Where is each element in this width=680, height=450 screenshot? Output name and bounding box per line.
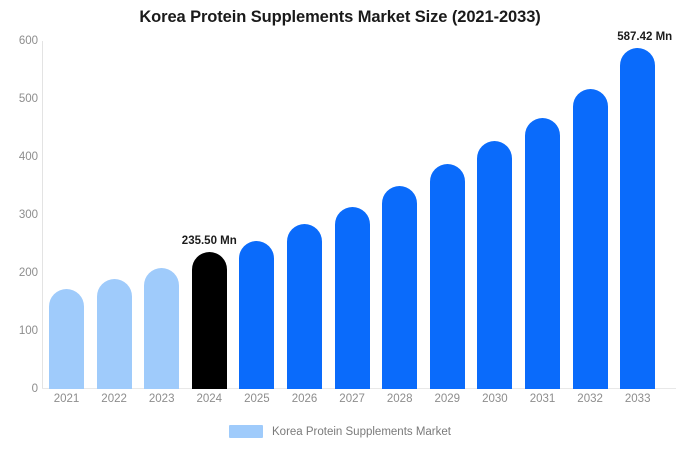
- x-axis-tick-label-2024: 2024: [192, 393, 227, 405]
- bar-2030[interactable]: [477, 141, 512, 389]
- bar-slot-2021: [49, 41, 84, 389]
- plot-area: 235.50 Mn587.42 Mn: [42, 41, 676, 389]
- y-axis: 0100200300400500600: [0, 41, 38, 389]
- bar-2026[interactable]: [287, 224, 322, 389]
- legend-label-korea-protein-supplements-market: Korea Protein Supplements Market: [272, 426, 451, 438]
- x-axis-tick-label-2029: 2029: [430, 393, 465, 405]
- y-axis-tick-label: 500: [4, 93, 38, 105]
- bar-slot-2023: [144, 41, 179, 389]
- bar-2025[interactable]: [239, 241, 274, 389]
- bar-2024[interactable]: 235.50 Mn: [192, 252, 227, 389]
- bar-2033[interactable]: 587.42 Mn: [620, 48, 655, 389]
- bar-2031[interactable]: [525, 118, 560, 389]
- bar-slot-2027: [335, 41, 370, 389]
- chart-title: Korea Protein Supplements Market Size (2…: [0, 8, 680, 27]
- bar-slot-2025: [239, 41, 274, 389]
- y-axis-tick-label: 100: [4, 325, 38, 337]
- bar-chart: Korea Protein Supplements Market Size (2…: [0, 0, 680, 450]
- x-axis-tick-label-2031: 2031: [525, 393, 560, 405]
- x-axis-tick-label-2027: 2027: [335, 393, 370, 405]
- x-axis-tick-label-2023: 2023: [144, 393, 179, 405]
- x-axis: 2021202220232024202520262027202820292030…: [42, 393, 676, 411]
- bar-2028[interactable]: [382, 186, 417, 389]
- y-axis-tick-label: 600: [4, 35, 38, 47]
- y-axis-tick-label: 0: [4, 383, 38, 395]
- x-axis-tick-label-2030: 2030: [477, 393, 512, 405]
- bar-slot-2031: [525, 41, 560, 389]
- bar-2022[interactable]: [97, 279, 132, 389]
- x-axis-tick-label-2022: 2022: [97, 393, 132, 405]
- bar-slot-2026: [287, 41, 322, 389]
- x-axis-tick-label-2028: 2028: [382, 393, 417, 405]
- chart-legend: Korea Protein Supplements Market: [0, 425, 680, 438]
- bar-slot-2028: [382, 41, 417, 389]
- bar-2023[interactable]: [144, 268, 179, 389]
- bar-2027[interactable]: [335, 207, 370, 389]
- bar-slot-2022: [97, 41, 132, 389]
- y-axis-tick-label: 300: [4, 209, 38, 221]
- bar-value-label-2024: 235.50 Mn: [182, 235, 237, 247]
- bar-slot-2033: 587.42 Mn: [620, 41, 655, 389]
- bar-2032[interactable]: [573, 89, 608, 389]
- bar-slot-2032: [573, 41, 608, 389]
- legend-swatch-korea-protein-supplements-market: [229, 425, 263, 438]
- bar-2029[interactable]: [430, 164, 465, 389]
- bar-slot-2029: [430, 41, 465, 389]
- bar-slot-2024: 235.50 Mn: [192, 41, 227, 389]
- x-axis-tick-label-2032: 2032: [573, 393, 608, 405]
- x-axis-tick-label-2021: 2021: [49, 393, 84, 405]
- bar-2021[interactable]: [49, 289, 84, 389]
- x-axis-tick-label-2033: 2033: [620, 393, 655, 405]
- x-axis-tick-label-2025: 2025: [239, 393, 274, 405]
- y-axis-tick-label: 400: [4, 151, 38, 163]
- x-axis-tick-label-2026: 2026: [287, 393, 322, 405]
- bar-slot-2030: [477, 41, 512, 389]
- bar-value-label-2033: 587.42 Mn: [617, 31, 672, 43]
- y-axis-tick-label: 200: [4, 267, 38, 279]
